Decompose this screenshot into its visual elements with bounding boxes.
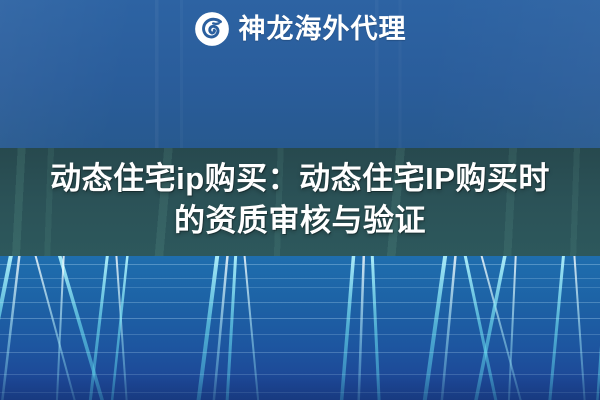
promo-banner: 神龙海外代理 — [0, 0, 600, 400]
banner-title-line-2: 的资质审核与验证 — [0, 200, 600, 242]
rays-band — [0, 256, 600, 400]
banner-title-line-1: 动态住宅ip购买：动态住宅IP购买时 — [0, 158, 600, 200]
horizontal-bands-overlay — [0, 256, 600, 400]
brand-name: 神龙海外代理 — [239, 11, 407, 47]
dragon-swirl-circle-icon — [194, 11, 230, 47]
brand-logo: 神龙海外代理 — [0, 11, 600, 47]
banner-title: 动态住宅ip购买：动态住宅IP购买时 的资质审核与验证 — [0, 158, 600, 242]
bottom-shade — [0, 374, 600, 400]
light-rays-graphic — [0, 256, 600, 400]
